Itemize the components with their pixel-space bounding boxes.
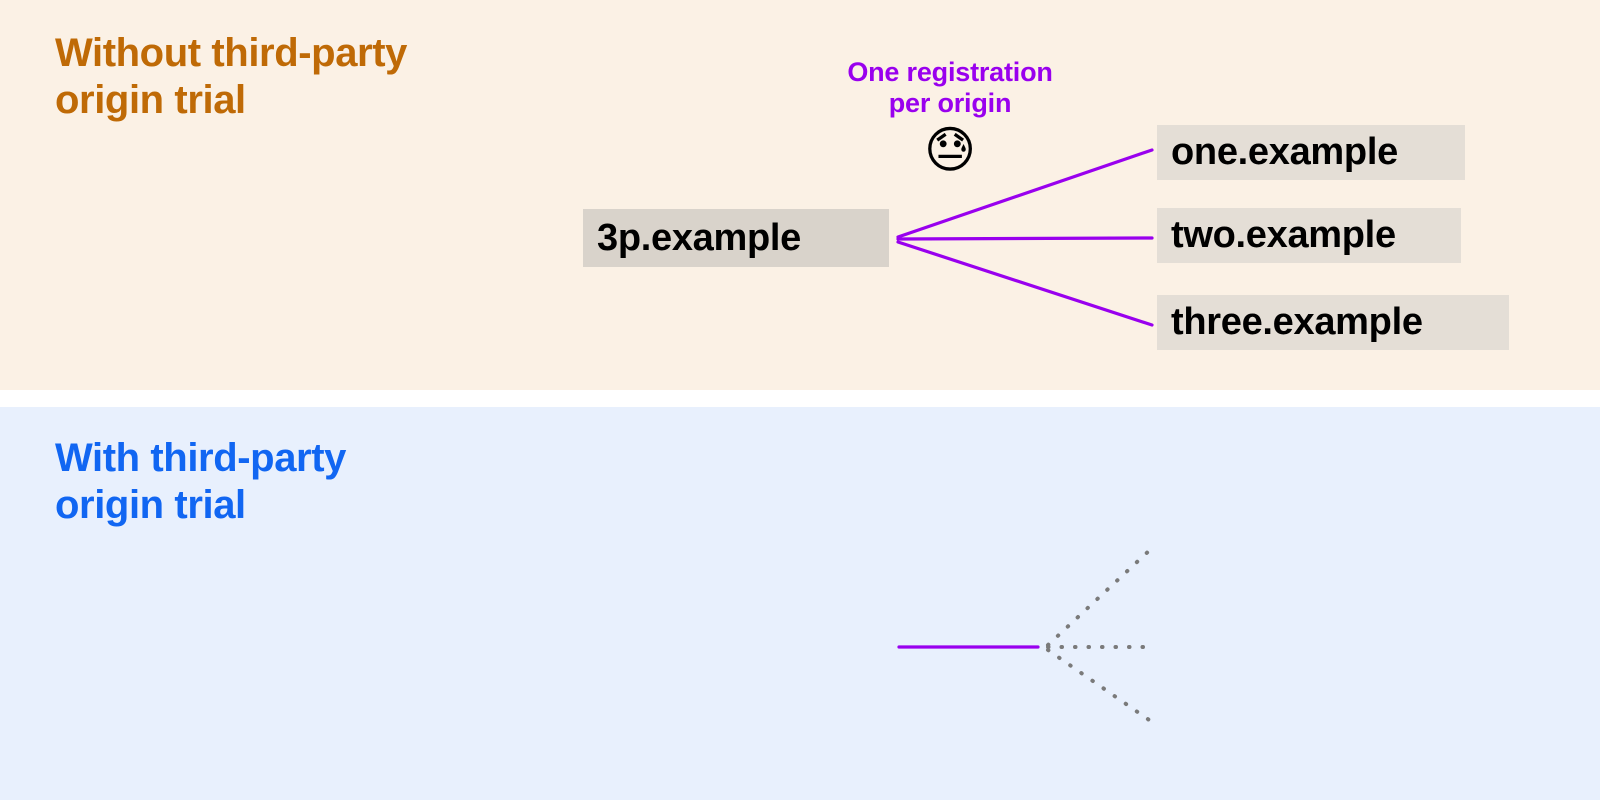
- panel-with-title: With third-party origin trial: [55, 435, 346, 529]
- panel-without-origin-trial: Without third-party origin trial One reg…: [0, 0, 1600, 390]
- destination-node-three-without: three.example: [1157, 295, 1509, 350]
- source-node-without-label: 3p.example: [597, 217, 801, 260]
- destination-node-one-without: one.example: [1157, 125, 1465, 180]
- source-node-without: 3p.example: [583, 209, 889, 267]
- annotation-without-text: One registration per origin: [847, 57, 1052, 118]
- annotation-without: One registration per origin 😓: [795, 57, 1105, 175]
- destination-node-two-without-label: two.example: [1171, 214, 1396, 257]
- weary-sweat-face-emoji: 😓: [795, 125, 1105, 175]
- panel-with-origin-trial: With third-party origin trial One regist…: [0, 407, 1600, 800]
- destination-node-one-without-label: one.example: [1171, 131, 1398, 174]
- panel-without-title: Without third-party origin trial: [55, 30, 407, 124]
- destination-node-two-without: two.example: [1157, 208, 1461, 263]
- destination-node-three-without-label: three.example: [1171, 301, 1423, 344]
- diagram-canvas: Without third-party origin trial One reg…: [0, 0, 1600, 800]
